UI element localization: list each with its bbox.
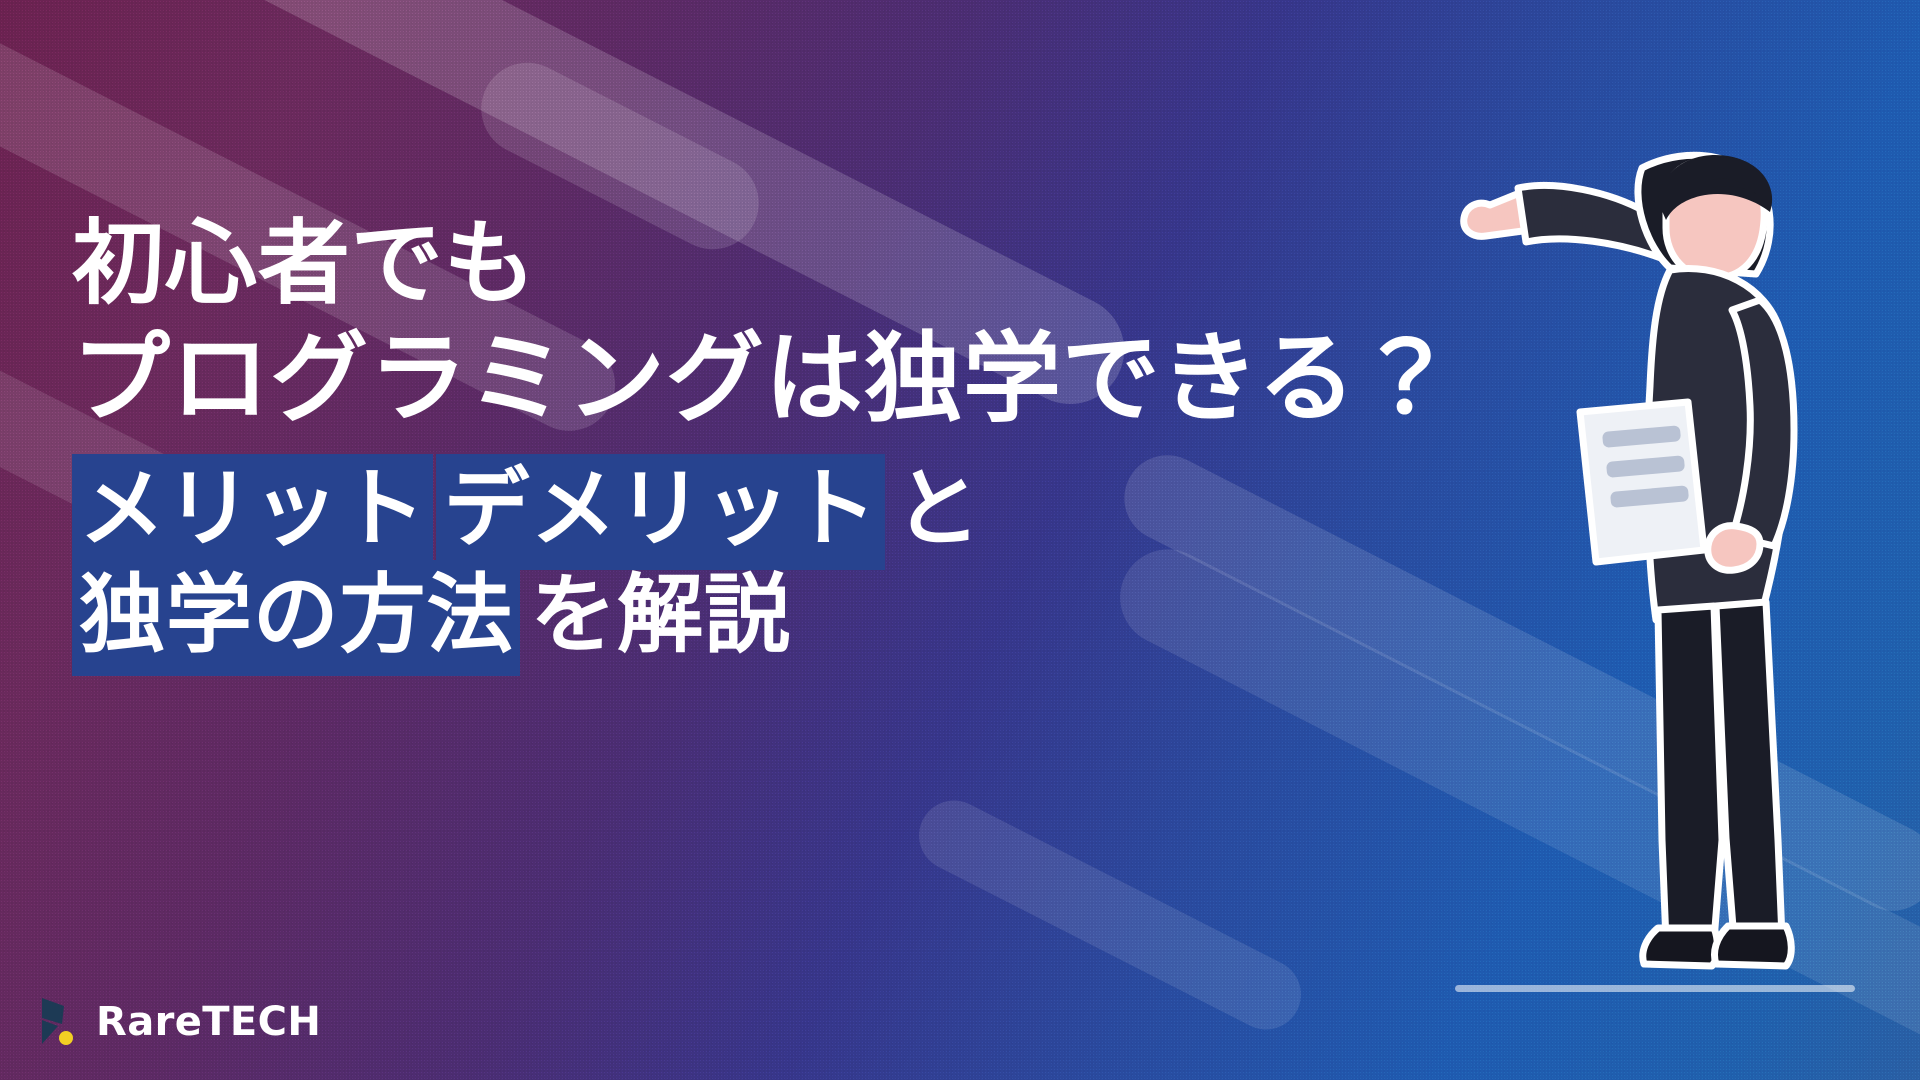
- headline-line-3: メリットデメリットと: [72, 466, 1332, 552]
- headline-highlight-demerit: デメリット: [436, 454, 884, 570]
- headline-highlight-merit: メリット: [72, 454, 433, 570]
- brand-logo: RareTECH: [28, 994, 321, 1050]
- headline-highlight-method: 独学の方法: [72, 560, 520, 676]
- headline-line-1: 初心者でも: [72, 218, 1332, 310]
- brand-name: RareTECH: [96, 999, 321, 1045]
- headline-line-4-tail: を解説: [520, 565, 791, 665]
- headline-line-2: プログラミングは独学できる？: [72, 330, 1332, 428]
- blog-thumbnail-banner: 初心者でも プログラミングは独学できる？ メリットデメリットと 独学の方法を解説: [0, 0, 1920, 1080]
- raretech-hexagon-logo-icon: [28, 994, 80, 1050]
- headline-block: 初心者でも プログラミングは独学できる？ メリットデメリットと 独学の方法を解説: [72, 218, 1332, 658]
- headline-line-3-tail: と: [885, 459, 982, 559]
- person-figure-icon: [1460, 150, 1880, 1030]
- document-icon: [1580, 402, 1704, 562]
- diagonal-band-decoration: [907, 788, 1313, 1041]
- headline-line-4: 独学の方法を解説: [72, 572, 1332, 658]
- yellow-dot-icon: [59, 1031, 73, 1045]
- standing-person-illustration: [1460, 150, 1880, 1030]
